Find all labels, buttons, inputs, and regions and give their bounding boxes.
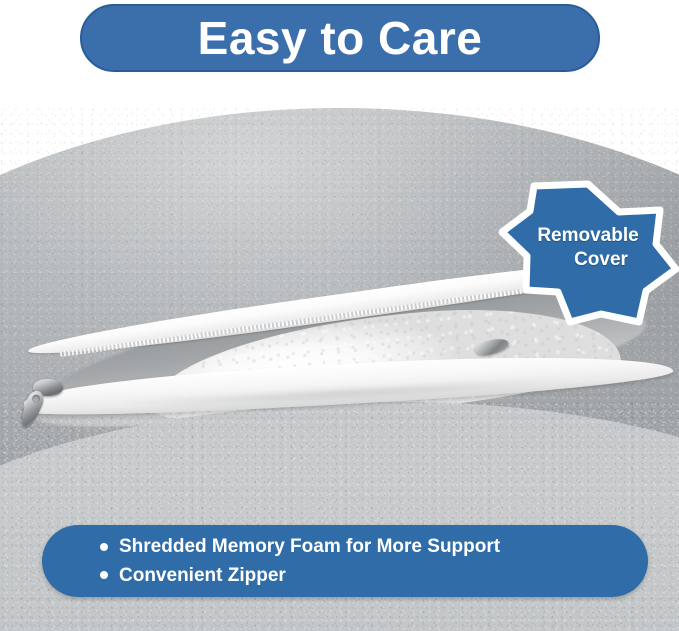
list-item: Shredded Memory Foam for More Support: [100, 534, 648, 559]
removable-cover-badge: Removable Cover: [496, 180, 679, 326]
bullet-label: Convenient Zipper: [119, 563, 286, 588]
feature-bullet-banner: Shredded Memory Foam for More Support Co…: [42, 525, 648, 597]
bullet-label: Shredded Memory Foam for More Support: [119, 534, 500, 559]
title-banner: Easy to Care: [80, 4, 600, 72]
eight-point-star-icon: [496, 180, 679, 326]
bullet-dot-icon: [100, 571, 108, 579]
bullet-dot-icon: [100, 543, 108, 551]
page-title: Easy to Care: [198, 15, 483, 61]
product-feature-image: Easy to Care Removable Cover Shredded Me…: [0, 0, 679, 631]
list-item: Convenient Zipper: [100, 563, 648, 588]
